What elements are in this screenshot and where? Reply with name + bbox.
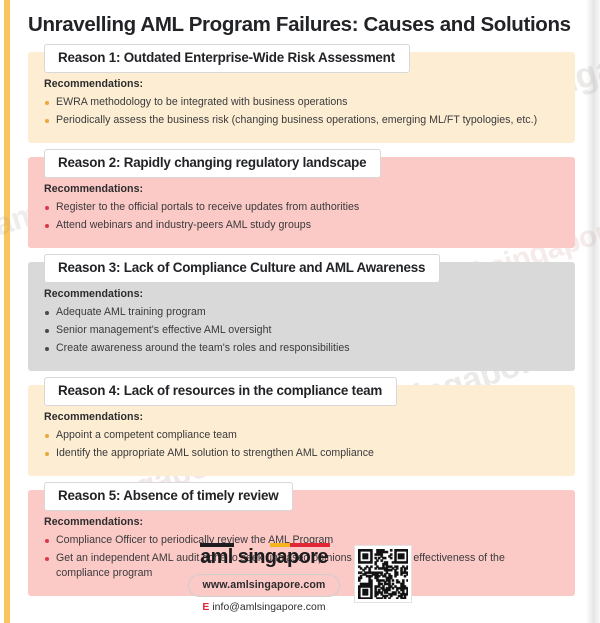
page-content: aml singapore aml singapore aml singapor… bbox=[0, 0, 600, 623]
reason-badge-1: Reason 1: Outdated Enterprise-Wide Risk … bbox=[44, 44, 410, 73]
reason-badge-2: Reason 2: Rapidly changing regulatory la… bbox=[44, 149, 381, 178]
list-item: Periodically assess the business risk (c… bbox=[44, 113, 559, 128]
email-line: E info@amlsingapore.com bbox=[202, 602, 325, 613]
list-item: Attend webinars and industry-peers AML s… bbox=[44, 218, 559, 233]
page-title: Unravelling AML Program Failures: Causes… bbox=[28, 0, 575, 38]
email-address[interactable]: info@amlsingapore.com bbox=[212, 602, 325, 613]
reason-card-3: Reason 3: Lack of Compliance Culture and… bbox=[28, 262, 575, 371]
list-item: Identify the appropriate AML solution to… bbox=[44, 446, 559, 461]
recommendations-list-1: EWRA methodology to be integrated with b… bbox=[44, 95, 559, 128]
reason-card-1: Reason 1: Outdated Enterprise-Wide Risk … bbox=[28, 52, 575, 143]
logo-bar-gold bbox=[270, 543, 290, 547]
recommendations-list-3: Adequate AML training program Senior man… bbox=[44, 305, 559, 356]
logo-bar-red bbox=[290, 543, 330, 547]
recommendations-label: Recommendations: bbox=[44, 288, 559, 300]
recommendations-list-4: Appoint a competent compliance team Iden… bbox=[44, 428, 559, 461]
reason-badge-5: Reason 5: Absence of timely review bbox=[44, 482, 293, 511]
aml-singapore-logo: aml singapore bbox=[200, 541, 328, 568]
reason-card-2: Reason 2: Rapidly changing regulatory la… bbox=[28, 157, 575, 248]
recommendations-label: Recommendations: bbox=[44, 411, 559, 423]
logo-text: aml singapore bbox=[200, 546, 328, 568]
list-item: Adequate AML training program bbox=[44, 305, 559, 320]
infographic-page: aml singapore aml singapore aml singapor… bbox=[0, 0, 600, 623]
logo-bar-black bbox=[200, 543, 234, 547]
recommendations-label: Recommendations: bbox=[44, 183, 559, 195]
reason-card-4: Reason 4: Lack of resources in the compl… bbox=[28, 385, 575, 476]
list-item: Create awareness around the team's roles… bbox=[44, 341, 559, 356]
recommendations-label: Recommendations: bbox=[44, 78, 559, 90]
recommendations-label: Recommendations: bbox=[44, 516, 559, 528]
brand-block: aml singapore www.amlsingapore.com E inf… bbox=[188, 541, 341, 613]
qr-code[interactable] bbox=[354, 545, 412, 603]
reason-badge-3: Reason 3: Lack of Compliance Culture and… bbox=[44, 254, 440, 283]
list-item: EWRA methodology to be integrated with b… bbox=[44, 95, 559, 110]
list-item: Senior management's effective AML oversi… bbox=[44, 323, 559, 338]
list-item: Register to the official portals to rece… bbox=[44, 200, 559, 215]
qr-code-canvas bbox=[358, 549, 408, 599]
email-prefix-label: E bbox=[202, 602, 209, 613]
reason-badge-4: Reason 4: Lack of resources in the compl… bbox=[44, 377, 397, 406]
list-item: Appoint a competent compliance team bbox=[44, 428, 559, 443]
footer: aml singapore www.amlsingapore.com E inf… bbox=[0, 541, 600, 613]
website-pill[interactable]: www.amlsingapore.com bbox=[188, 574, 341, 597]
recommendations-list-2: Register to the official portals to rece… bbox=[44, 200, 559, 233]
